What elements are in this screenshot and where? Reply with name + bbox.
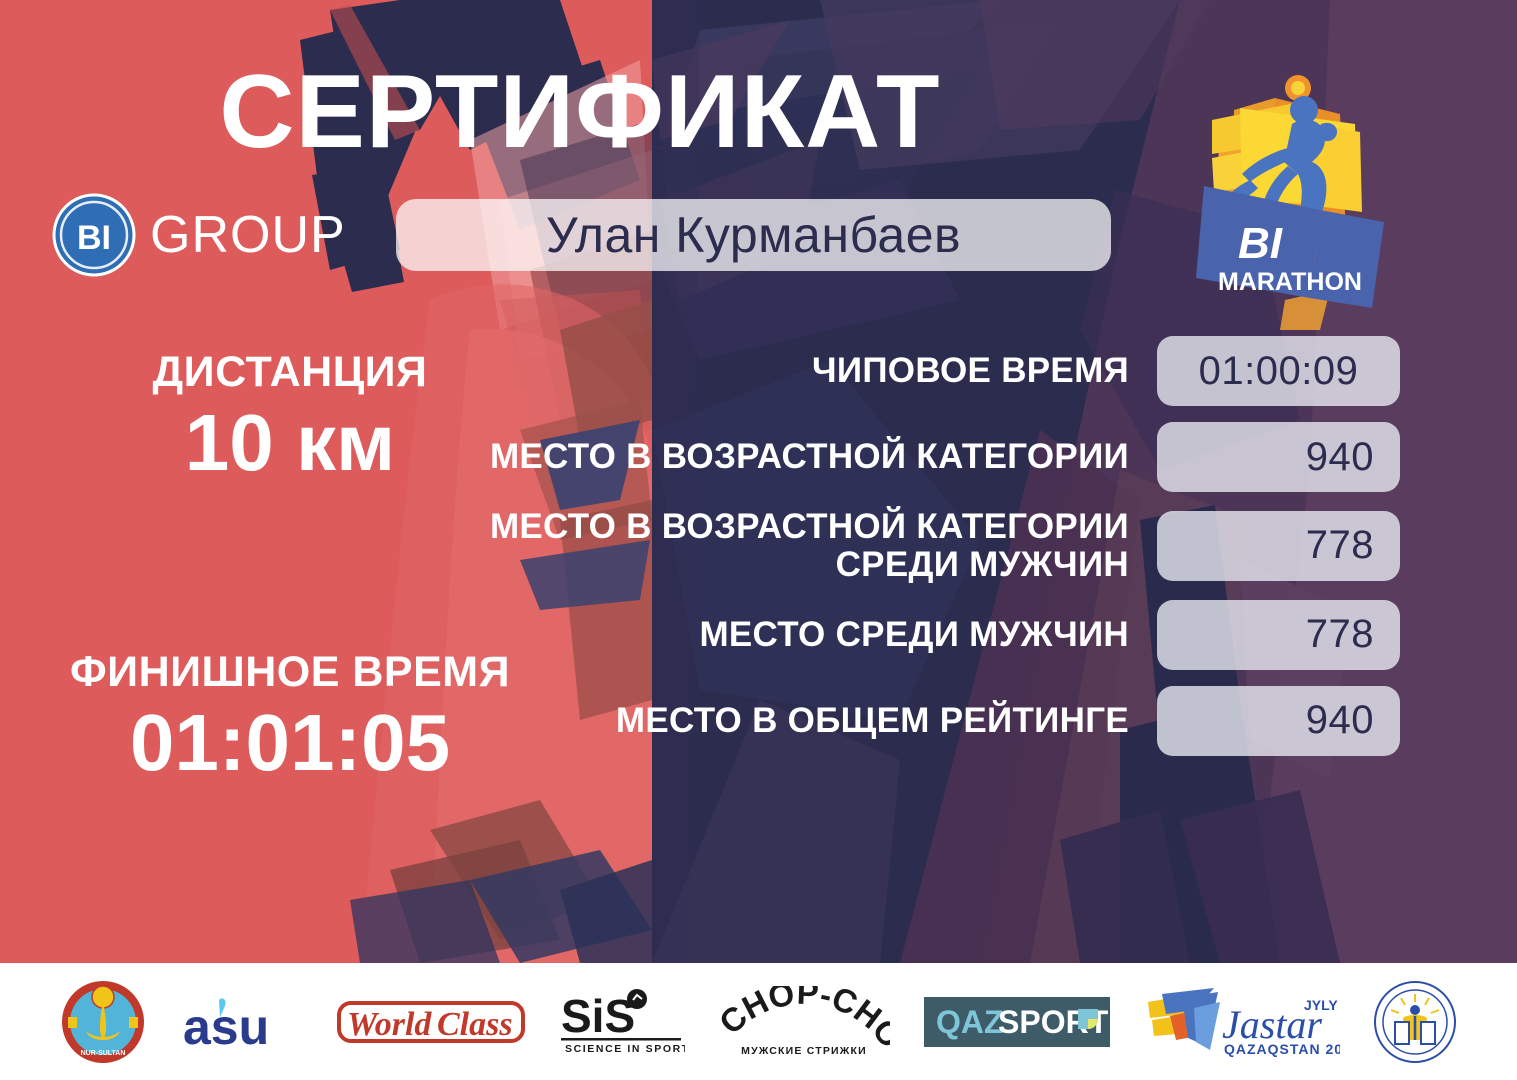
left-stat-finish-time: ФИНИШНОЕ ВРЕМЯ 01:01:05: [60, 648, 520, 787]
sponsor-ministry-emblem-icon: [1373, 976, 1457, 1068]
overall-place-value: 940: [1157, 686, 1400, 756]
svg-text:NUR-SULTAN: NUR-SULTAN: [80, 1050, 125, 1057]
chip-time-value: 01:00:09: [1157, 336, 1400, 406]
athlete-name-field: Улан Курманбаев: [396, 199, 1111, 271]
distance-label: ДИСТАНЦИЯ: [60, 348, 520, 396]
sponsor-jastar-jyly-logo: Jastar JYLY QAZAQSTAN 2019: [1144, 976, 1340, 1068]
chip-time-label: ЧИПОВОЕ ВРЕМЯ: [470, 352, 1129, 390]
stat-row-age-category-place: МЕСТО В ВОЗРАСТНОЙ КАТЕГОРИИ 940: [470, 422, 1400, 492]
bi-marathon-logo: BI MARATHON: [1180, 62, 1410, 312]
age-category-men-place-value: 778: [1157, 511, 1400, 581]
bi-group-roundel-icon: BI: [52, 193, 136, 277]
sponsor-world-class-logo: World Class: [337, 976, 525, 1068]
sponsor-sis-logo: SiS SCIENCE IN SPORT: [559, 976, 685, 1068]
sponsor-chop-chop-logo: CHOP-CHOP МУЖСКИЕ СТРИЖКИ: [718, 976, 890, 1068]
svg-text:SCIENCE IN SPORT: SCIENCE IN SPORT: [565, 1043, 685, 1055]
overall-place-label: МЕСТО В ОБЩЕМ РЕЙТИНГЕ: [470, 702, 1129, 740]
certificate-title: СЕРТИФИКАТ: [0, 58, 1160, 167]
svg-text:BI: BI: [77, 219, 111, 257]
stat-row-age-category-men-place: МЕСТО В ВОЗРАСТНОЙ КАТЕГОРИИ СРЕДИ МУЖЧИ…: [470, 508, 1400, 584]
stat-row-chip-time: ЧИПОВОЕ ВРЕМЯ 01:00:09: [470, 336, 1400, 406]
bi-marathon-line1: BI: [1238, 219, 1283, 268]
svg-text:QAZAQSTAN 2019: QAZAQSTAN 2019: [1224, 1041, 1340, 1057]
svg-text:QAZ: QAZ: [936, 1004, 1004, 1040]
left-stat-distance: ДИСТАНЦИЯ 10 км: [60, 348, 520, 487]
svg-text:МУЖСКИЕ СТРИЖКИ: МУЖСКИЕ СТРИЖКИ: [741, 1045, 867, 1057]
svg-text:World: World: [347, 1006, 432, 1043]
svg-text:SiS: SiS: [561, 990, 635, 1042]
age-category-place-value: 940: [1157, 422, 1400, 492]
age-category-men-place-label: МЕСТО В ВОЗРАСТНОЙ КАТЕГОРИИ СРЕДИ МУЖЧИ…: [470, 508, 1129, 584]
bi-group-wordmark: GROUP: [150, 205, 346, 265]
men-place-label: МЕСТО СРЕДИ МУЖЧИН: [470, 616, 1129, 654]
sponsor-strip: NUR-SULTAN asu World Class SiS SCIENCE I: [0, 963, 1517, 1080]
age-category-place-label: МЕСТО В ВОЗРАСТНОЙ КАТЕГОРИИ: [470, 438, 1129, 476]
distance-value: 10 км: [60, 400, 520, 486]
svg-text:Class: Class: [437, 1006, 513, 1043]
stat-row-overall-place: МЕСТО В ОБЩЕМ РЕЙТИНГЕ 940: [470, 686, 1400, 756]
svg-text:asu: asu: [183, 999, 269, 1054]
right-stats-list: ЧИПОВОЕ ВРЕМЯ 01:00:09 МЕСТО В ВОЗРАСТНО…: [470, 336, 1400, 772]
stat-row-men-place: МЕСТО СРЕДИ МУЖЧИН 778: [470, 600, 1400, 670]
sponsor-qazsport-logo: QAZ SPORT: [924, 976, 1110, 1068]
sponsor-asu-logo: asu: [179, 976, 303, 1068]
bi-marathon-line2: MARATHON: [1218, 268, 1362, 296]
certificate: СЕРТИФИКАТ BI GROUP Улан Курманбаев: [0, 0, 1517, 1080]
bi-group-logo: BI GROUP: [52, 193, 346, 277]
sponsor-nur-sultan-emblem-icon: NUR-SULTAN: [60, 976, 146, 1068]
men-place-value: 778: [1157, 600, 1400, 670]
athlete-name-text: Улан Курманбаев: [546, 206, 961, 264]
finish-time-label: ФИНИШНОЕ ВРЕМЯ: [60, 648, 520, 696]
finish-time-value: 01:01:05: [60, 700, 520, 786]
svg-text:JYLY: JYLY: [1304, 997, 1338, 1013]
